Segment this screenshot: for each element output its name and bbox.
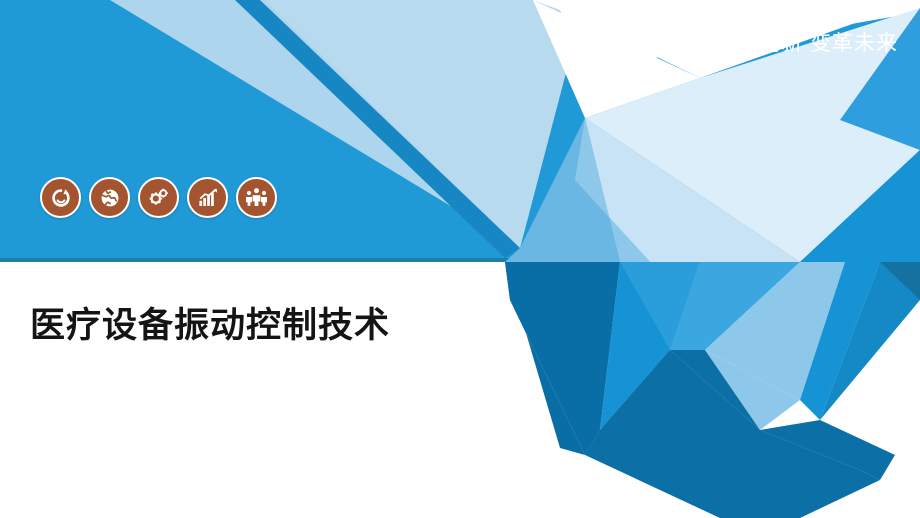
icon-badge-globe[interactable] xyxy=(89,177,130,218)
gears-icon xyxy=(146,185,171,210)
recycle-arrow-icon xyxy=(49,186,73,210)
icon-row xyxy=(40,177,277,218)
slide-tagline: 数智创新 变革未来 xyxy=(715,27,898,57)
bar-chart-growth-icon xyxy=(196,186,220,210)
presentation-slide: 数智创新 变革未来 xyxy=(0,0,920,518)
icon-badge-people[interactable] xyxy=(236,177,277,218)
icon-badge-chart[interactable] xyxy=(187,177,228,218)
icon-badge-recycle[interactable] xyxy=(40,177,81,218)
people-group-icon xyxy=(244,185,269,210)
page-title: 医疗设备振动控制技术 xyxy=(30,297,390,348)
background-artwork xyxy=(0,0,920,518)
icon-badge-gears[interactable] xyxy=(138,177,179,218)
globe-icon xyxy=(98,186,122,210)
